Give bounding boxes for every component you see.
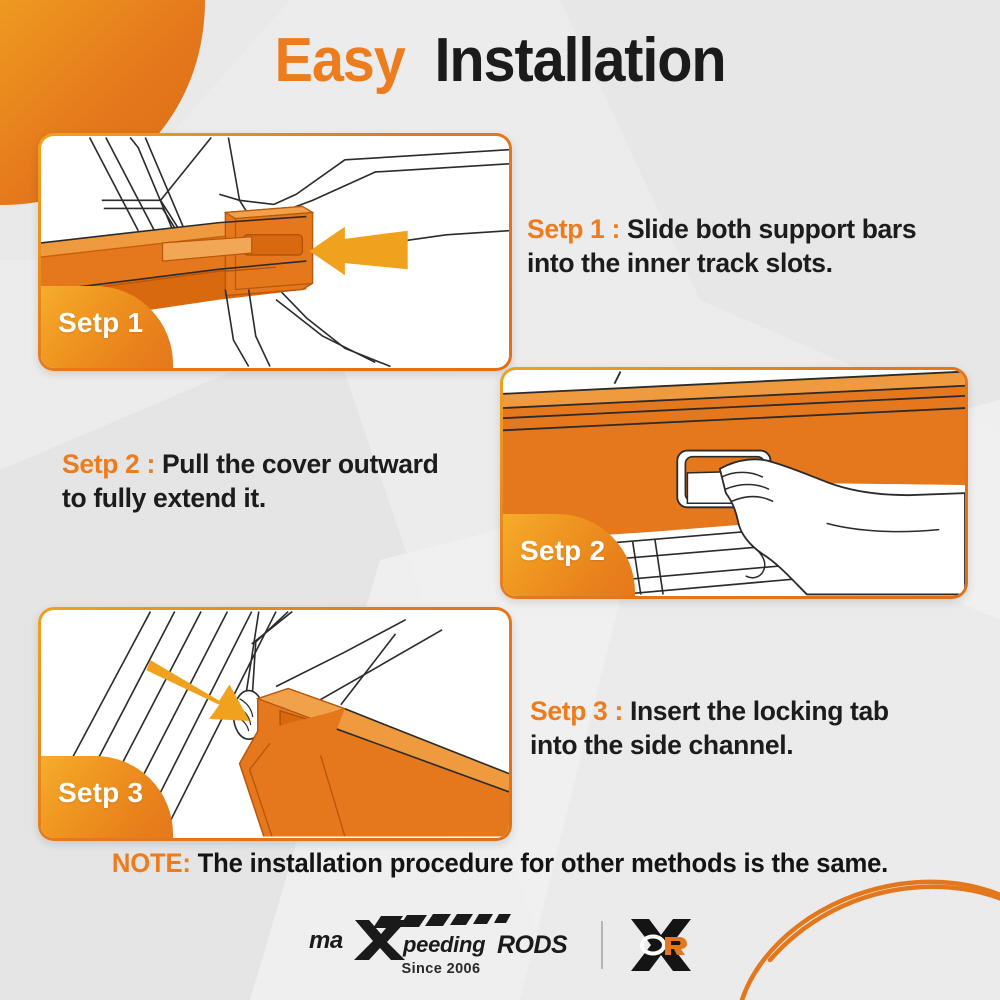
page-title: Easy Installation (35, 30, 965, 92)
page-title-accent: Easy (275, 26, 405, 95)
infographic-canvas: Easy Installation (0, 0, 1000, 1000)
step-2-image-panel: Setp 2 (500, 367, 968, 599)
step-2-line-1: Pull the cover outward (162, 449, 439, 479)
step-1-text: Setp 1 : Slide both support bars into th… (527, 212, 957, 281)
note-line: NOTE: The installation procedure for oth… (25, 848, 975, 879)
step-2-lead: Setp 2 : (62, 449, 162, 479)
step-1-line-1: Slide both support bars (627, 214, 916, 244)
step-3-image-panel: Setp 3 (38, 607, 512, 841)
step-3-line-2: into the side channel. (530, 730, 793, 760)
step-2-badge-label: Setp 2 (520, 537, 605, 565)
svg-text:RODS: RODS (497, 931, 568, 959)
step-1-line-2: into the inner track slots. (527, 248, 833, 278)
footer-divider (601, 921, 603, 969)
logo-since-label: Since 2006 (402, 961, 481, 977)
step-2-line-2: to fully extend it. (62, 483, 266, 513)
page-title-main: Installation (435, 26, 726, 95)
note-lead: NOTE: (112, 848, 198, 878)
step-3-lead: Setp 3 : (530, 696, 630, 726)
note-text: The installation procedure for other met… (198, 848, 888, 878)
oxr-logo-icon (629, 917, 693, 973)
step-1-badge-label: Setp 1 (58, 309, 143, 337)
footer-logos: ma peeding RODS Since 2006 (0, 905, 1000, 985)
svg-text:ma: ma (309, 927, 343, 954)
step-1-image-panel: Setp 1 (38, 133, 512, 371)
step-2-text: Setp 2 : Pull the cover outward to fully… (62, 447, 492, 516)
step-3-line-1: Insert the locking tab (630, 696, 889, 726)
step-3-badge-label: Setp 3 (58, 779, 143, 807)
svg-text:peeding: peeding (402, 932, 486, 957)
step-3-text: Setp 3 : Insert the locking tab into the… (530, 694, 960, 763)
maxpeedingrods-wordmark-icon: ma peeding RODS (307, 914, 575, 960)
step-1-lead: Setp 1 : (527, 214, 627, 244)
maxpeedingrods-logo: ma peeding RODS Since 2006 (307, 914, 575, 977)
